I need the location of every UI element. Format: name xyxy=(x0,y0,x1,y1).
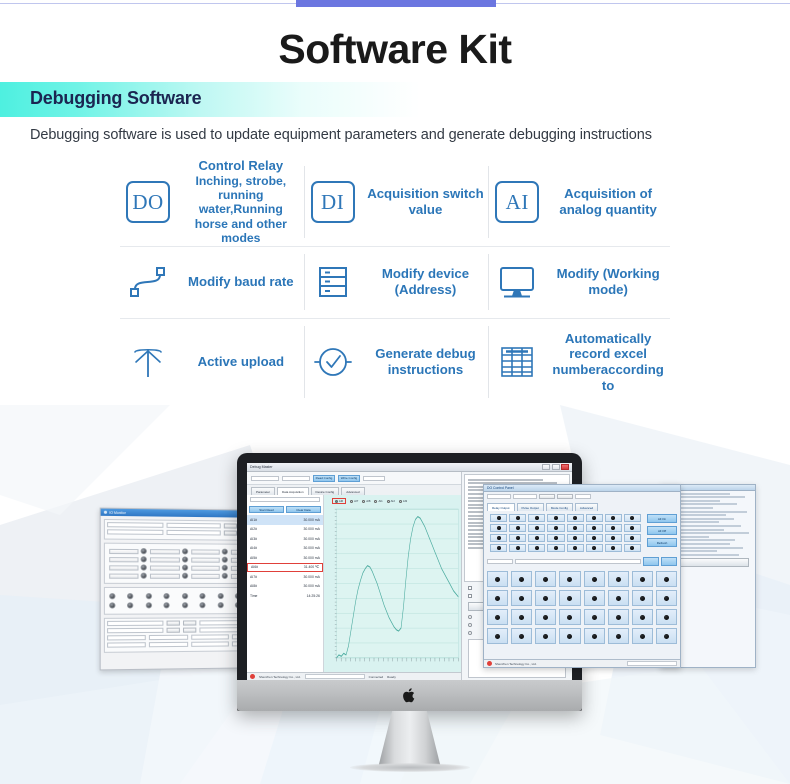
right-status-field xyxy=(627,661,677,666)
feature-item-auto-record-excel[interactable]: Automatically record excel numberaccordi… xyxy=(489,318,670,406)
input-cell[interactable] xyxy=(656,590,677,606)
list-filter-row xyxy=(247,495,323,504)
main-left-pane: Read Config Write Config Parameter Data … xyxy=(247,472,462,680)
reading-channel: AI1# xyxy=(250,518,257,522)
relay-chip[interactable] xyxy=(490,544,507,552)
led-indicator-icon[interactable] xyxy=(127,593,133,599)
imac-chin xyxy=(237,680,582,711)
scan-button[interactable] xyxy=(557,494,573,499)
led-indicator-icon xyxy=(181,573,187,579)
relay-chip[interactable] xyxy=(586,524,603,532)
reading-value: 30.000 mA xyxy=(303,556,319,560)
main-status-bar: Shenzhen Technology Co., Ltd. Connected … xyxy=(247,672,461,680)
led-field[interactable] xyxy=(150,556,187,562)
feature-grid: DO Control Relay Inching, strobe, runnin… xyxy=(120,158,670,408)
table-row[interactable]: AI8# 30.000 mA xyxy=(247,582,323,592)
config-input[interactable] xyxy=(107,529,163,535)
input-cell[interactable] xyxy=(535,628,556,644)
right-software-window[interactable]: DO Control Panel Relay Output Pulse Outp… xyxy=(483,484,681,668)
relay-led-icon xyxy=(535,546,539,550)
reading-channel: AI6# xyxy=(251,565,258,569)
upload-arrow-icon xyxy=(124,338,172,386)
reading-channel: AI3# xyxy=(250,537,257,541)
relay-led-icon xyxy=(592,516,596,520)
input-led-icon xyxy=(519,634,524,639)
feature-title: Modify (Working mode) xyxy=(550,266,666,297)
input-cell-grid xyxy=(484,568,680,647)
input-cell[interactable] xyxy=(632,571,653,587)
right-window-titlebar: DO Control Panel xyxy=(484,485,680,492)
input-cell[interactable] xyxy=(559,609,580,625)
input-led-icon xyxy=(543,634,548,639)
relay-chip[interactable] xyxy=(547,534,564,542)
start-read-button[interactable]: Start Read xyxy=(249,506,284,513)
feature-title: Active upload xyxy=(181,354,301,370)
relay-chip[interactable] xyxy=(547,514,564,522)
feature-title: Modify device (Address) xyxy=(366,266,486,297)
led-indicator-icon xyxy=(222,557,228,563)
param-input[interactable] xyxy=(149,642,187,647)
main-window-titlebar: Debug Master xyxy=(247,463,572,472)
input-led-icon xyxy=(640,596,645,601)
input-led-icon xyxy=(616,634,621,639)
input-led-icon xyxy=(664,634,669,639)
relay-chip[interactable] xyxy=(567,544,584,552)
software-kit-page: Software Kit Debugging Software Debuggin… xyxy=(0,0,790,784)
tab-pulse-output[interactable]: Pulse Output xyxy=(517,503,544,511)
relay-led-icon xyxy=(497,516,501,520)
baud-select[interactable] xyxy=(513,494,537,499)
server-rack-icon xyxy=(309,258,357,306)
led-indicator-icon xyxy=(181,548,187,554)
refresh-button[interactable]: Refresh xyxy=(647,538,677,547)
config-button[interactable] xyxy=(224,530,237,535)
input-led-icon xyxy=(567,615,572,620)
relay-led-icon xyxy=(497,526,501,530)
main-tabs: Parameter Data Acquisition Device Config… xyxy=(247,485,461,495)
di-square-icon: DI xyxy=(309,178,357,226)
toolbar-select[interactable] xyxy=(251,476,279,481)
relay-chip-grid xyxy=(487,511,644,555)
led-indicator-icon xyxy=(222,549,228,555)
mode-save-button[interactable] xyxy=(661,557,677,566)
toolbar-select[interactable] xyxy=(282,476,310,481)
mode-select[interactable] xyxy=(487,559,513,564)
list-buttons: Start Read Clear Data xyxy=(247,504,323,515)
toolbar-input[interactable] xyxy=(363,476,385,481)
reading-value: 30.000 mA xyxy=(303,546,319,550)
acquisition-chart: AI6 AI7 AI8 AI1 AI2 AI3 xyxy=(324,495,461,672)
relay-led-icon xyxy=(554,526,558,530)
input-led-icon xyxy=(664,596,669,601)
relay-chip[interactable] xyxy=(624,544,641,552)
relay-led-icon xyxy=(573,536,577,540)
feature-row-3: Active upload Generate debug instruction… xyxy=(120,318,670,406)
relay-chip[interactable] xyxy=(547,544,564,552)
input-cell[interactable] xyxy=(511,609,532,625)
input-cell[interactable] xyxy=(487,628,508,644)
relay-led-icon xyxy=(497,546,501,550)
relay-chip[interactable] xyxy=(509,524,526,532)
param-input[interactable] xyxy=(107,635,146,640)
led-indicator-icon xyxy=(181,565,187,571)
reading-value: 30.000 mA xyxy=(303,575,319,579)
input-led-icon xyxy=(519,577,524,582)
tab-device-config[interactable]: Device Config xyxy=(311,487,340,495)
led-field[interactable] xyxy=(150,548,187,554)
table-row[interactable]: AI7# 30.000 mA xyxy=(247,572,323,582)
relay-chip[interactable] xyxy=(509,514,526,522)
relay-led-icon xyxy=(554,536,558,540)
relay-chip[interactable] xyxy=(528,524,545,532)
input-cell[interactable] xyxy=(535,590,556,606)
relay-chip[interactable] xyxy=(624,514,641,522)
led-indicator-icon[interactable] xyxy=(217,602,223,608)
led-indicator-icon[interactable] xyxy=(109,602,115,608)
config-button[interactable] xyxy=(224,523,237,528)
feature-title: Acquisition of analog quantity xyxy=(550,186,666,217)
imac-stand-foot xyxy=(350,763,470,772)
feature-item-modify-baud-rate[interactable]: Modify baud rate xyxy=(120,246,305,318)
status-indicator-icon xyxy=(250,674,255,679)
relay-chip-area xyxy=(487,511,644,555)
left-window-title: IO Monitor xyxy=(109,510,126,514)
page-title: Software Kit xyxy=(0,26,790,73)
relay-led-icon xyxy=(516,546,520,550)
relay-chip[interactable] xyxy=(567,514,584,522)
feature-item-modify-working-mode[interactable]: Modify (Working mode) xyxy=(489,246,670,318)
relay-chip[interactable] xyxy=(547,524,564,532)
led-field[interactable] xyxy=(191,573,228,579)
right-toolbar xyxy=(484,492,680,501)
input-cell[interactable] xyxy=(632,628,653,644)
table-row[interactable]: AI3# 30.000 mA xyxy=(247,534,323,544)
section-subtitle: Debugging software is used to update equ… xyxy=(30,127,770,143)
input-cell[interactable] xyxy=(656,609,677,625)
input-led-icon xyxy=(664,615,669,620)
led-indicator-icon[interactable] xyxy=(182,602,188,608)
mode-input[interactable] xyxy=(515,559,641,564)
relay-chip[interactable] xyxy=(490,524,507,532)
input-cell[interactable] xyxy=(584,609,605,625)
feature-title: Modify baud rate xyxy=(181,274,301,290)
relay-led-icon xyxy=(611,526,615,530)
input-cell[interactable] xyxy=(584,571,605,587)
input-cell[interactable] xyxy=(608,628,629,644)
toolbar-read-button[interactable]: Read Config xyxy=(313,475,335,482)
param-button[interactable] xyxy=(166,621,179,626)
relay-led-icon xyxy=(516,536,520,540)
input-cell[interactable] xyxy=(487,590,508,606)
led-indicator-icon[interactable] xyxy=(164,602,170,608)
maximize-button[interactable] xyxy=(552,464,560,470)
relay-led-icon xyxy=(592,546,596,550)
relay-chip[interactable] xyxy=(509,534,526,542)
feature-subtitle: Inching, strobe, running water,Running h… xyxy=(181,174,301,246)
config-input[interactable] xyxy=(107,522,163,528)
relay-chip[interactable] xyxy=(528,534,545,542)
relay-chip[interactable] xyxy=(605,524,622,532)
led-indicator-icon[interactable] xyxy=(200,602,206,608)
param-input[interactable] xyxy=(107,642,146,648)
led-field[interactable] xyxy=(191,557,228,563)
param-input[interactable] xyxy=(191,634,229,639)
table-row[interactable]: AI1# 30.000 mA xyxy=(247,515,323,525)
baud-rate-curve-icon xyxy=(124,258,172,306)
led-field[interactable] xyxy=(109,573,147,579)
relay-chip[interactable] xyxy=(605,514,622,522)
status-ready: Ready xyxy=(387,675,396,679)
right-mode-row xyxy=(484,555,680,568)
input-cell[interactable] xyxy=(584,628,605,644)
reading-value: 30.000 mA xyxy=(303,584,319,588)
led-field[interactable] xyxy=(109,548,147,554)
input-cell[interactable] xyxy=(535,609,556,625)
feature-item-control-relay[interactable]: DO Control Relay Inching, strobe, runnin… xyxy=(120,158,305,246)
led-indicator-icon[interactable] xyxy=(182,593,188,599)
table-row[interactable]: Time 14:25:26 xyxy=(247,591,323,601)
feature-item-active-upload[interactable]: Active upload xyxy=(120,318,305,406)
input-led-icon xyxy=(543,615,548,620)
mode-apply-button[interactable] xyxy=(643,557,659,566)
relay-chip[interactable] xyxy=(605,534,622,542)
window-controls xyxy=(542,464,569,470)
reading-channel: AI2# xyxy=(250,527,257,531)
reading-value: 14:25:26 xyxy=(307,594,320,598)
input-led-icon xyxy=(640,615,645,620)
feature-item-acquisition-switch[interactable]: DI Acquisition switch value xyxy=(305,158,490,246)
main-content: Start Read Clear Data AI1# 30.000 mA AI2… xyxy=(247,495,461,672)
input-led-icon xyxy=(616,615,621,620)
input-led-icon xyxy=(592,615,597,620)
input-led-icon xyxy=(543,577,548,582)
section-badge: Debugging Software xyxy=(0,82,420,117)
input-cell[interactable] xyxy=(608,609,629,625)
tab-advanced[interactable]: Advanced xyxy=(575,503,598,511)
all-off-button[interactable]: All Off xyxy=(647,526,677,535)
relay-led-icon xyxy=(611,536,615,540)
apple-logo-icon xyxy=(402,687,417,704)
led-indicator-icon xyxy=(141,548,147,554)
param-button[interactable] xyxy=(182,628,195,633)
input-led-icon xyxy=(495,596,500,601)
tab-advanced[interactable]: Advanced xyxy=(341,487,364,495)
close-button[interactable] xyxy=(561,464,569,470)
led-indicator-icon[interactable] xyxy=(127,602,133,608)
monitor-icon xyxy=(493,258,541,306)
led-field[interactable] xyxy=(191,565,228,571)
led-indicator-icon[interactable] xyxy=(164,593,170,599)
input-led-icon xyxy=(495,634,500,639)
relay-led-icon xyxy=(516,516,520,520)
relay-chip[interactable] xyxy=(624,534,641,542)
main-toolbar: Read Config Write Config xyxy=(247,472,461,485)
table-row-highlighted[interactable]: AI6# 31.400 ℃ xyxy=(247,563,323,573)
relay-led-icon xyxy=(573,516,577,520)
input-led-icon xyxy=(640,634,645,639)
clear-data-button[interactable]: Clear Data xyxy=(286,506,321,513)
open-button[interactable] xyxy=(539,494,555,499)
relay-chip[interactable] xyxy=(624,524,641,532)
led-indicator-icon[interactable] xyxy=(200,593,206,599)
config-input[interactable] xyxy=(166,530,221,536)
tab-mode-config[interactable]: Mode Config xyxy=(546,503,573,511)
input-cell[interactable] xyxy=(559,590,580,606)
param-input[interactable] xyxy=(107,621,163,626)
input-cell[interactable] xyxy=(608,571,629,587)
relay-led-icon xyxy=(611,546,615,550)
input-cell[interactable] xyxy=(632,609,653,625)
input-cell[interactable] xyxy=(608,590,629,606)
toolbar-write-button[interactable]: Write Config xyxy=(338,475,360,482)
relay-led-icon xyxy=(630,526,634,530)
input-cell[interactable] xyxy=(559,571,580,587)
input-led-icon xyxy=(495,615,500,620)
table-row[interactable]: AI4# 30.000 mA xyxy=(247,544,323,554)
input-cell[interactable] xyxy=(535,571,556,587)
main-window-title: Debug Master xyxy=(250,465,273,469)
relay-chip[interactable] xyxy=(490,534,507,542)
ai-square-icon: AI xyxy=(493,178,541,226)
input-led-icon xyxy=(519,596,524,601)
feature-row-2: Modify baud rate Modify device (Address) xyxy=(120,246,670,318)
led-indicator-icon[interactable] xyxy=(146,602,152,608)
relay-chip[interactable] xyxy=(567,524,584,532)
port-select[interactable] xyxy=(487,494,511,499)
input-cell[interactable] xyxy=(511,571,532,587)
relay-chip[interactable] xyxy=(605,544,622,552)
input-led-icon xyxy=(592,596,597,601)
relay-chip[interactable] xyxy=(490,514,507,522)
status-indicator-icon xyxy=(487,661,492,666)
addr-input[interactable] xyxy=(575,494,591,499)
reading-channel: AI8# xyxy=(250,584,257,588)
feature-item-generate-debug-instructions[interactable]: Generate debug instructions xyxy=(305,318,490,406)
right-status-bar: Shenzhen Technology Co., Ltd. xyxy=(484,659,680,667)
status-connection: Connected xyxy=(369,675,384,679)
feature-item-modify-device-address[interactable]: Modify device (Address) xyxy=(305,246,490,318)
led-indicator-icon xyxy=(141,556,147,562)
table-row[interactable]: AI2# 30.000 mA xyxy=(247,525,323,535)
led-field[interactable] xyxy=(109,556,147,562)
input-led-icon xyxy=(519,615,524,620)
relay-chip[interactable] xyxy=(509,544,526,552)
tab-parameter[interactable]: Parameter xyxy=(251,487,275,495)
led-indicator-icon xyxy=(141,564,147,570)
input-led-icon xyxy=(664,577,669,582)
input-cell[interactable] xyxy=(584,590,605,606)
right-action-column: All On All Off Refresh xyxy=(647,511,677,555)
input-cell[interactable] xyxy=(632,590,653,606)
spreadsheet-grid-icon xyxy=(493,338,541,386)
imac-stand-neck xyxy=(379,711,441,766)
input-led-icon xyxy=(592,577,597,582)
relay-chip[interactable] xyxy=(586,534,603,542)
right-status-text: Shenzhen Technology Co., Ltd. xyxy=(495,662,537,666)
reading-channel: AI7# xyxy=(250,575,257,579)
relay-chip[interactable] xyxy=(528,544,545,552)
feature-title: Acquisition switch value xyxy=(366,186,486,217)
input-cell[interactable] xyxy=(656,628,677,644)
relay-led-icon xyxy=(535,516,539,520)
input-cell[interactable] xyxy=(487,571,508,587)
input-led-icon xyxy=(495,577,500,582)
relay-chip[interactable] xyxy=(567,534,584,542)
relay-led-icon xyxy=(611,516,615,520)
feature-title: Control Relay xyxy=(181,158,301,173)
relay-led-icon xyxy=(592,536,596,540)
reading-value: 31.400 ℃ xyxy=(304,565,319,569)
all-on-button[interactable]: All On xyxy=(647,514,677,523)
input-cell[interactable] xyxy=(487,609,508,625)
relay-led-icon xyxy=(554,516,558,520)
config-input[interactable] xyxy=(166,523,221,529)
relay-led-icon xyxy=(573,526,577,530)
minimize-button[interactable] xyxy=(542,464,550,470)
param-button[interactable] xyxy=(182,620,195,625)
input-led-icon xyxy=(616,596,621,601)
led-field[interactable] xyxy=(150,564,187,570)
window-dot-icon xyxy=(104,511,107,514)
led-indicator-icon[interactable] xyxy=(146,593,152,599)
input-cell[interactable] xyxy=(511,628,532,644)
input-cell[interactable] xyxy=(656,571,677,587)
reading-value: 30.000 mA xyxy=(303,518,319,522)
reading-value: 30.000 mA xyxy=(303,537,319,541)
param-input[interactable] xyxy=(149,635,187,640)
relay-led-icon xyxy=(535,526,539,530)
led-field[interactable] xyxy=(150,573,187,579)
led-indicator-icon xyxy=(181,556,187,562)
input-led-icon xyxy=(616,577,621,582)
input-cell[interactable] xyxy=(559,628,580,644)
feature-item-acquisition-analog[interactable]: AI Acquisition of analog quantity xyxy=(489,158,670,246)
table-row[interactable]: AI5# 30.000 mA xyxy=(247,553,323,563)
reading-value: 30.000 mA xyxy=(303,527,319,531)
relay-chip[interactable] xyxy=(528,514,545,522)
param-button[interactable] xyxy=(166,628,179,633)
right-main-area: All On All Off Refresh xyxy=(484,511,680,555)
chart-canvas xyxy=(324,495,461,672)
led-field[interactable] xyxy=(191,548,228,554)
relay-chip[interactable] xyxy=(586,544,603,552)
led-field[interactable] xyxy=(109,564,147,570)
list-filter-input[interactable] xyxy=(250,497,320,502)
product-showcase: IO Monitor xyxy=(0,440,790,740)
input-led-icon xyxy=(567,596,572,601)
log-line xyxy=(468,479,543,481)
feature-label: Control Relay Inching, strobe, running w… xyxy=(181,158,301,245)
relay-led-icon xyxy=(592,526,596,530)
param-input[interactable] xyxy=(107,628,163,634)
readings-list: Start Read Clear Data AI1# 30.000 mA AI2… xyxy=(247,495,324,672)
led-indicator-icon xyxy=(141,573,147,579)
input-led-icon xyxy=(567,577,572,582)
reading-channel: AI5# xyxy=(250,556,257,560)
input-led-icon xyxy=(640,577,645,582)
relay-led-icon xyxy=(554,546,558,550)
input-cell[interactable] xyxy=(511,590,532,606)
led-indicator-icon[interactable] xyxy=(217,593,223,599)
reading-channel: AI4# xyxy=(250,546,257,550)
tab-relay-output[interactable]: Relay Output xyxy=(487,503,515,511)
led-indicator-icon[interactable] xyxy=(109,593,115,599)
tab-data-acquisition[interactable]: Data Acquisition xyxy=(277,487,309,495)
relay-led-icon xyxy=(630,536,634,540)
relay-chip[interactable] xyxy=(586,514,603,522)
reading-channel: Time xyxy=(250,594,257,598)
param-input[interactable] xyxy=(191,641,229,646)
